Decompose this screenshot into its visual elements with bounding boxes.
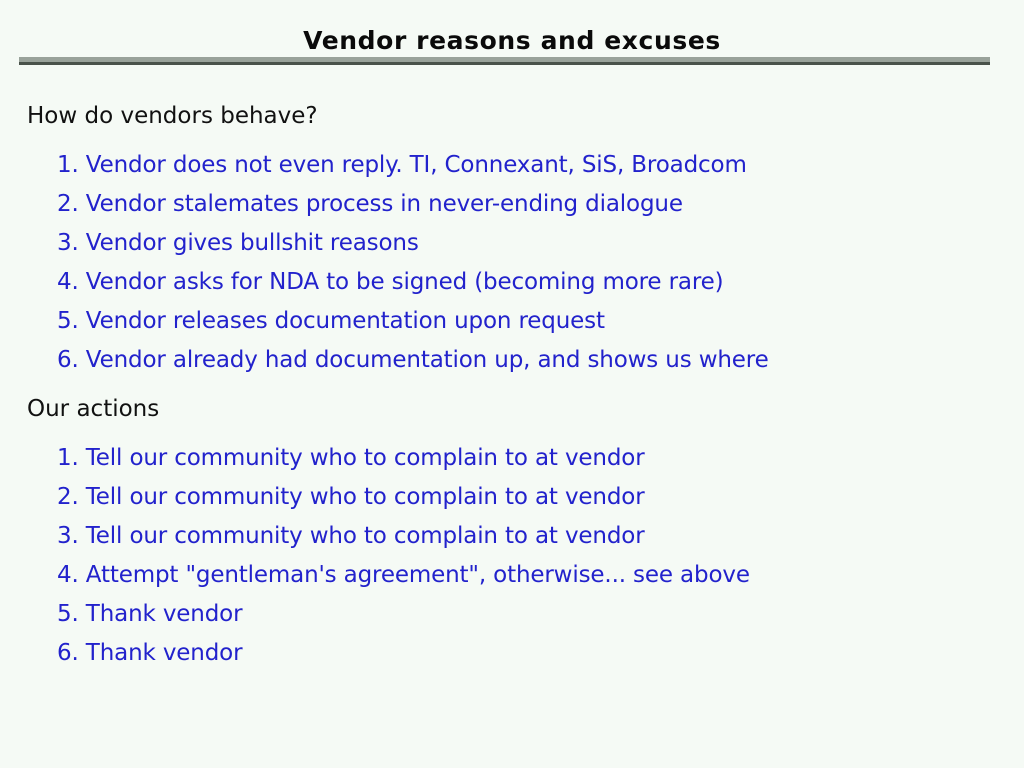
list-item: 5. Vendor releases documentation upon re… <box>0 302 1024 341</box>
list-item: 6. Vendor already had documentation up, … <box>0 341 1024 380</box>
list-item: 1. Tell our community who to complain to… <box>0 439 1024 478</box>
title-divider <box>19 57 990 65</box>
list-item: 6. Thank vendor <box>0 634 1024 673</box>
our-actions-list: 1. Tell our community who to complain to… <box>0 439 1024 673</box>
list-item: 2. Vendor stalemates process in never-en… <box>0 185 1024 224</box>
section-heading-our-actions: Our actions <box>0 389 1024 429</box>
section-our-actions: Our actions 1. Tell our community who to… <box>0 389 1024 673</box>
list-item: 4. Vendor asks for NDA to be signed (bec… <box>0 263 1024 302</box>
list-item: 4. Attempt "gentleman's agreement", othe… <box>0 556 1024 595</box>
list-item: 1. Vendor does not even reply. TI, Conne… <box>0 146 1024 185</box>
list-item: 3. Vendor gives bullshit reasons <box>0 224 1024 263</box>
section-heading-how-do-vendors-behave: How do vendors behave? <box>0 96 1024 136</box>
slide-body: How do vendors behave? 1. Vendor does no… <box>0 96 1024 673</box>
spacer <box>0 380 1024 389</box>
title-divider-dark-band <box>19 62 990 65</box>
spacer <box>0 429 1024 439</box>
presentation-slide: Vendor reasons and excuses How do vendor… <box>0 0 1024 768</box>
slide-title: Vendor reasons and excuses <box>0 26 1024 56</box>
section-how-do-vendors-behave: How do vendors behave? 1. Vendor does no… <box>0 96 1024 380</box>
list-item: 5. Thank vendor <box>0 595 1024 634</box>
list-item: 2. Tell our community who to complain to… <box>0 478 1024 517</box>
spacer <box>0 136 1024 146</box>
vendor-behavior-list: 1. Vendor does not even reply. TI, Conne… <box>0 146 1024 380</box>
list-item: 3. Tell our community who to complain to… <box>0 517 1024 556</box>
